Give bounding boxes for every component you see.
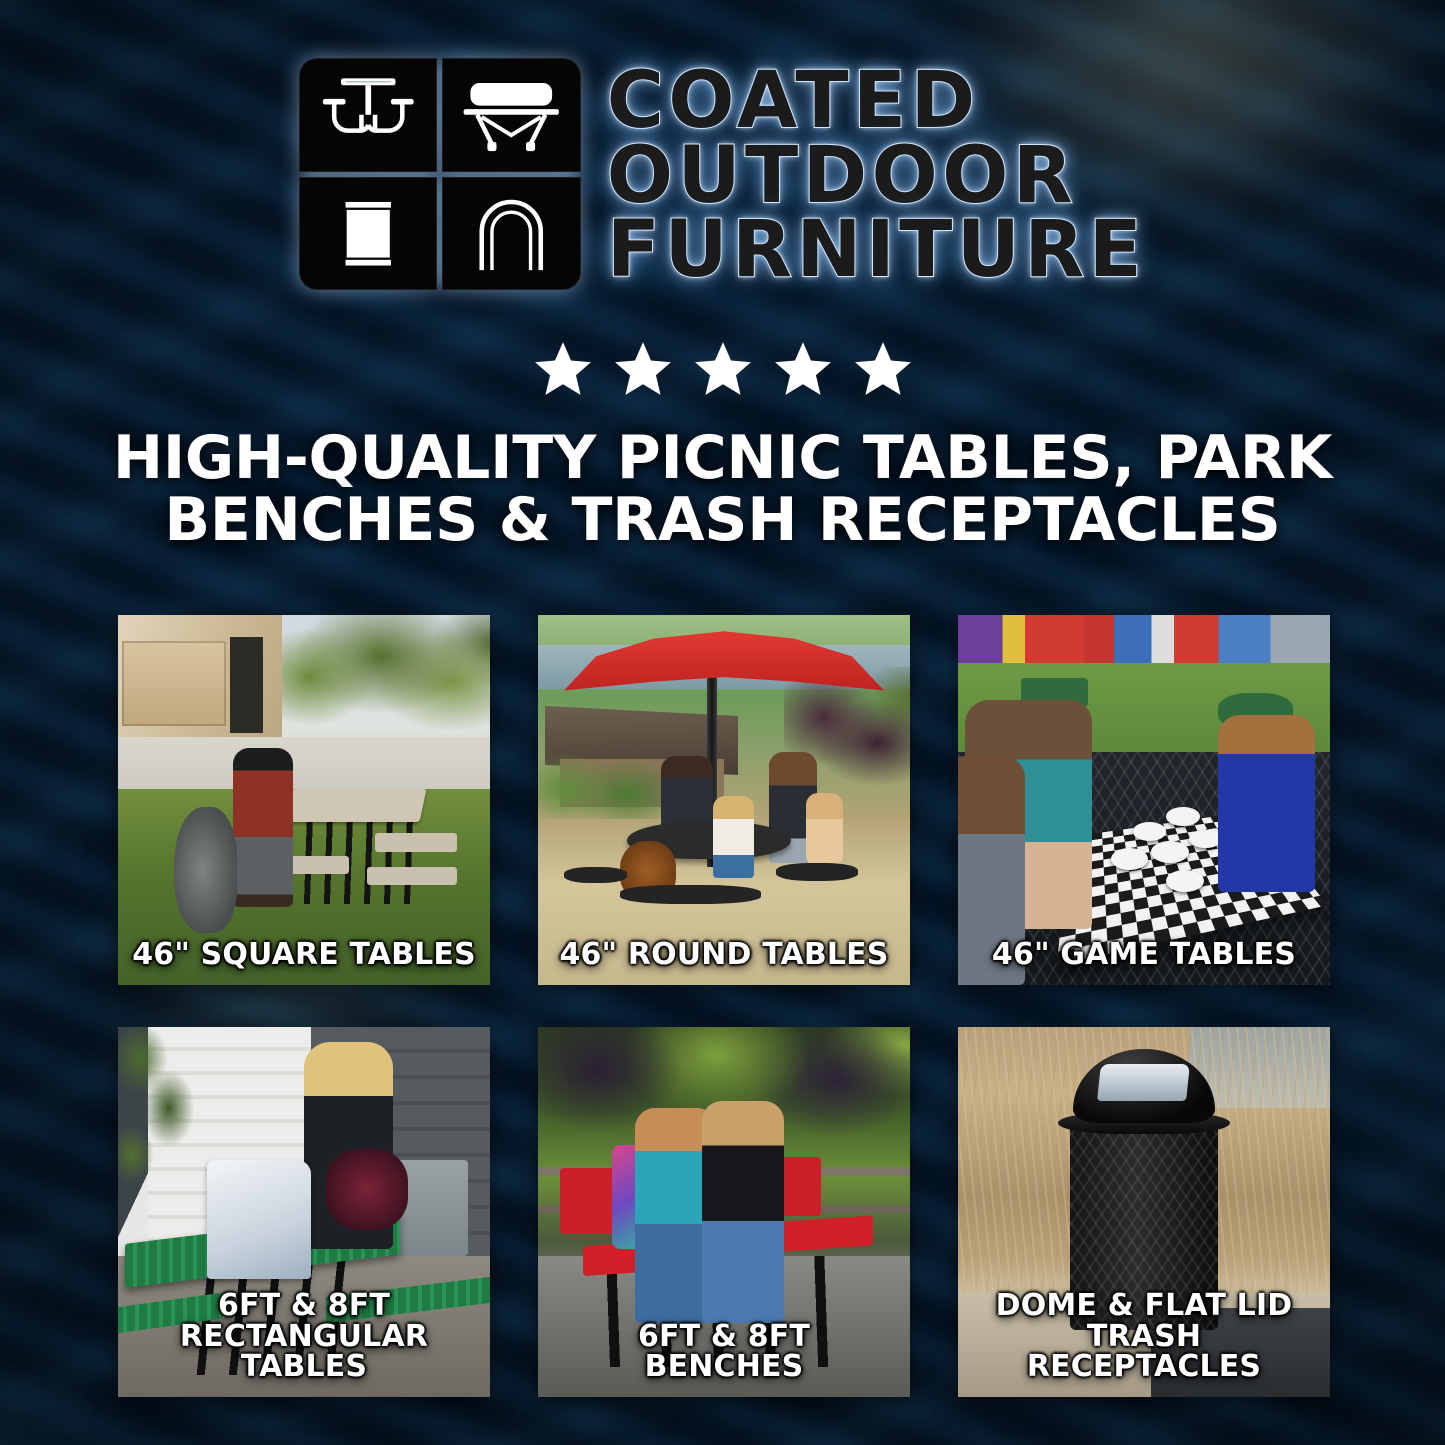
headline-line-1: HIGH-QUALITY PICNIC TABLES, PARK	[0, 428, 1445, 490]
five-star-rating	[0, 338, 1445, 400]
caption-line-2: BENCHES	[546, 1352, 902, 1383]
product-photo-square-tables	[118, 615, 490, 985]
star-icon	[852, 338, 914, 400]
product-caption-rectangular-tables: 6FT & 8FT RECTANGULAR TABLES	[118, 1291, 490, 1397]
bike-rack-arch-icon	[442, 177, 581, 291]
trash-receptacle-icon	[299, 177, 438, 291]
brand-name-line-3: FURNITURE	[607, 213, 1146, 288]
product-tile-benches[interactable]: 6FT & 8FT BENCHES	[538, 1027, 910, 1397]
caption-line-1: 6FT & 8FT	[546, 1322, 902, 1353]
caption-line-1: 6FT & 8FT	[126, 1291, 482, 1322]
product-photo-game-tables	[958, 615, 1330, 985]
star-icon	[772, 338, 834, 400]
product-tile-rectangular-tables[interactable]: 6FT & 8FT RECTANGULAR TABLES	[118, 1027, 490, 1397]
brand-logo-block: COATED OUTDOOR FURNITURE	[0, 58, 1445, 290]
caption-line-2: RECTANGULAR TABLES	[126, 1322, 482, 1383]
product-caption-round-tables: 46" ROUND TABLES	[538, 940, 910, 985]
star-icon	[692, 338, 754, 400]
round-picnic-table-icon	[299, 58, 438, 172]
brand-wordmark: COATED OUTDOOR FURNITURE	[607, 64, 1146, 289]
page-title: HIGH-QUALITY PICNIC TABLES, PARK BENCHES…	[0, 428, 1445, 552]
caption-line-1: 46" SQUARE TABLES	[126, 940, 482, 971]
caption-line-1: DOME & FLAT LID	[966, 1291, 1322, 1322]
product-caption-square-tables: 46" SQUARE TABLES	[118, 940, 490, 985]
brand-name-line-2: OUTDOOR	[607, 139, 1077, 214]
product-tile-trash-receptacles[interactable]: DOME & FLAT LID TRASH RECEPTACLES	[958, 1027, 1330, 1397]
caption-line-1: 46" ROUND TABLES	[546, 940, 902, 971]
caption-line-2: TRASH RECEPTACLES	[966, 1322, 1322, 1383]
product-category-grid: 46" SQUARE TABLES 46" ROUND TABLES	[118, 615, 1330, 1397]
promo-banner: COATED OUTDOOR FURNITURE HIGH-QUALITY PI…	[0, 0, 1445, 1445]
star-icon	[612, 338, 674, 400]
product-caption-benches: 6FT & 8FT BENCHES	[538, 1322, 910, 1397]
product-tile-game-tables[interactable]: 46" GAME TABLES	[958, 615, 1330, 985]
product-caption-trash-receptacles: DOME & FLAT LID TRASH RECEPTACLES	[958, 1291, 1330, 1397]
product-tile-square-tables[interactable]: 46" SQUARE TABLES	[118, 615, 490, 985]
product-caption-game-tables: 46" GAME TABLES	[958, 940, 1330, 985]
park-bench-icon	[442, 58, 581, 172]
brand-name-line-1: COATED	[607, 64, 980, 139]
headline-line-2: BENCHES & TRASH RECEPTACLES	[0, 490, 1445, 552]
star-icon	[532, 338, 594, 400]
product-photo-round-tables	[538, 615, 910, 985]
four-quadrant-outdoor-furniture-icon	[299, 58, 581, 290]
product-tile-round-tables[interactable]: 46" ROUND TABLES	[538, 615, 910, 985]
caption-line-1: 46" GAME TABLES	[966, 940, 1322, 971]
